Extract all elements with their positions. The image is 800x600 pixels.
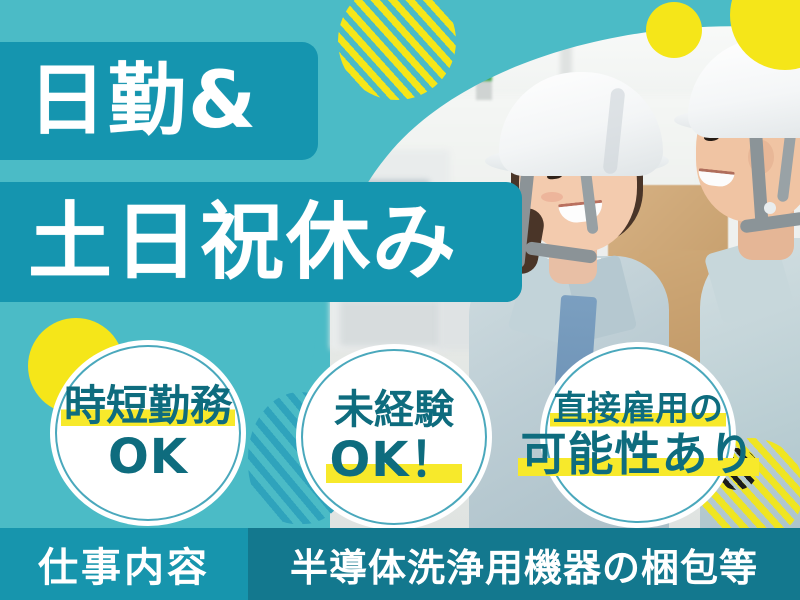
headline-line-1: 日勤& bbox=[0, 42, 318, 160]
badge-2-line-1: 未経験 bbox=[334, 389, 454, 431]
job-description-label: 仕事内容 bbox=[0, 528, 248, 600]
badge-2-line-2: OK！ bbox=[326, 435, 461, 485]
job-ad-banner: 日勤& 土日祝休み 時短勤務 OK 未経験 OK！ 直接雇用の 可能性あり 仕事… bbox=[0, 0, 800, 600]
badge-1-line-1: 時短勤務 bbox=[61, 384, 235, 428]
feature-badges: 時短勤務 OK 未経験 OK！ 直接雇用の 可能性あり bbox=[0, 330, 800, 520]
badge-direct-hire: 直接雇用の 可能性あり bbox=[540, 342, 736, 528]
badge-no-experience: 未経験 OK！ bbox=[296, 344, 492, 530]
badge-short-hours: 時短勤務 OK bbox=[50, 340, 246, 526]
job-description-bar: 仕事内容 半導体洗浄用機器の梱包等 bbox=[0, 528, 800, 600]
badge-3-line-1: 直接雇用の bbox=[550, 392, 726, 428]
headline-line-2: 土日祝休み bbox=[0, 182, 522, 302]
yellow-circle-decoration bbox=[646, 2, 702, 58]
badge-1-line-2: OK bbox=[108, 432, 188, 482]
job-description-value: 半導体洗浄用機器の梱包等 bbox=[248, 528, 800, 600]
badge-3-line-2: 可能性あり bbox=[518, 430, 759, 478]
